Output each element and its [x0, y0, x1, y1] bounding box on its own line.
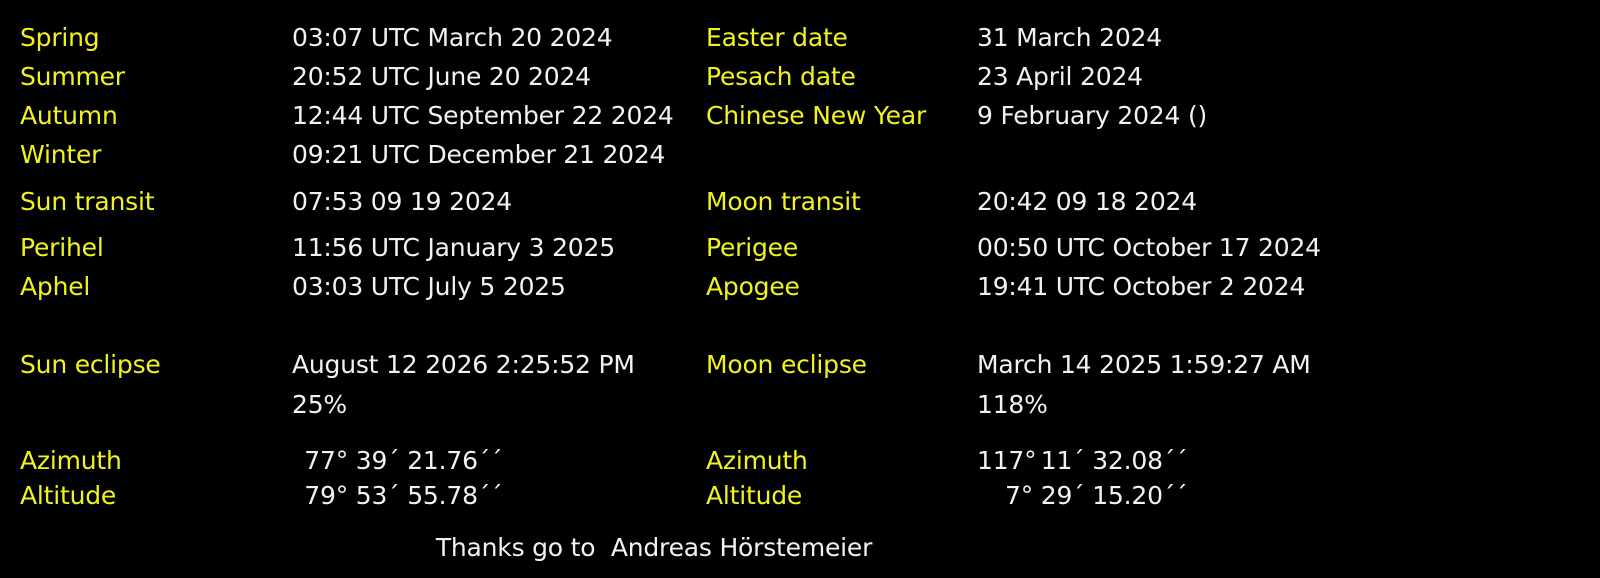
- sun-azimuth-minutes-seconds: 39´ 21.76´´: [356, 446, 503, 475]
- row-value-aphel: 03:03 UTC July 5 2025: [292, 267, 692, 306]
- row-label-perihel: Perihel: [20, 228, 290, 267]
- row-label-easter-date: Easter date: [706, 18, 976, 57]
- row-value-summer: 20:52 UTC June 20 2024: [292, 57, 692, 96]
- row-label-summer: Summer: [20, 57, 290, 96]
- row-label-moon-eclipse: Moon eclipse: [706, 345, 976, 384]
- row-label-sun-altitude: Altitude: [20, 476, 290, 515]
- row-value-moon-eclipse-datetime: March 14 2025 1:59:27 AM: [977, 345, 1397, 384]
- moon-altitude-minutes-seconds: 29´ 15.20´´: [1041, 481, 1188, 510]
- row-value-sun-eclipse-datetime: August 12 2026 2:25:52 PM: [292, 345, 692, 384]
- row-label-chinese-new-year: Chinese New Year: [706, 96, 976, 135]
- row-value-moon-transit: 20:42 09 18 2024: [977, 182, 1397, 221]
- astronomy-info-panel: Spring 03:07 UTC March 20 2024 Summer 20…: [0, 0, 1600, 578]
- sun-altitude-minutes-seconds: 53´ 55.78´´: [356, 481, 503, 510]
- row-label-sun-transit: Sun transit: [20, 182, 290, 221]
- moon-azimuth-minutes-seconds: 11´ 32.08´´: [1041, 446, 1188, 475]
- credit-line: Thanks go to Andreas Hörstemeier: [0, 528, 1600, 567]
- row-label-winter: Winter: [20, 135, 290, 174]
- row-value-sun-eclipse-magnitude: 25%: [292, 385, 692, 424]
- row-value-chinese-new-year: 9 February 2024 (): [977, 96, 1397, 135]
- row-value-moon-azimuth: 117° 11´ 32.08´´: [977, 441, 1397, 480]
- row-value-apogee: 19:41 UTC October 2 2024: [977, 267, 1397, 306]
- row-value-sun-azimuth: 77° 39´ 21.76´´: [292, 441, 692, 480]
- row-value-spring: 03:07 UTC March 20 2024: [292, 18, 692, 57]
- row-value-moon-eclipse-magnitude: 118%: [977, 385, 1397, 424]
- row-label-aphel: Aphel: [20, 267, 290, 306]
- row-value-sun-transit: 07:53 09 19 2024: [292, 182, 692, 221]
- row-value-moon-altitude: 7° 29´ 15.20´´: [977, 476, 1397, 515]
- row-value-winter: 09:21 UTC December 21 2024: [292, 135, 692, 174]
- row-label-spring: Spring: [20, 18, 290, 57]
- row-label-apogee: Apogee: [706, 267, 976, 306]
- row-value-easter-date: 31 March 2024: [977, 18, 1397, 57]
- row-label-autumn: Autumn: [20, 96, 290, 135]
- sun-altitude-degrees: 79°: [292, 476, 348, 515]
- row-label-moon-altitude: Altitude: [706, 476, 976, 515]
- row-label-sun-azimuth: Azimuth: [20, 441, 290, 480]
- row-label-moon-azimuth: Azimuth: [706, 441, 976, 480]
- row-value-sun-altitude: 79° 53´ 55.78´´: [292, 476, 692, 515]
- sun-azimuth-degrees: 77°: [292, 441, 348, 480]
- row-value-autumn: 12:44 UTC September 22 2024: [292, 96, 692, 135]
- row-label-pesach-date: Pesach date: [706, 57, 976, 96]
- row-value-pesach-date: 23 April 2024: [977, 57, 1397, 96]
- moon-altitude-degrees: 7°: [977, 476, 1033, 515]
- row-label-sun-eclipse: Sun eclipse: [20, 345, 290, 384]
- row-value-perihel: 11:56 UTC January 3 2025: [292, 228, 692, 267]
- row-value-perigee: 00:50 UTC October 17 2024: [977, 228, 1397, 267]
- row-label-perigee: Perigee: [706, 228, 976, 267]
- row-label-moon-transit: Moon transit: [706, 182, 976, 221]
- credit-text: Thanks go to Andreas Hörstemeier: [436, 533, 872, 562]
- moon-azimuth-degrees: 117°: [977, 441, 1033, 480]
